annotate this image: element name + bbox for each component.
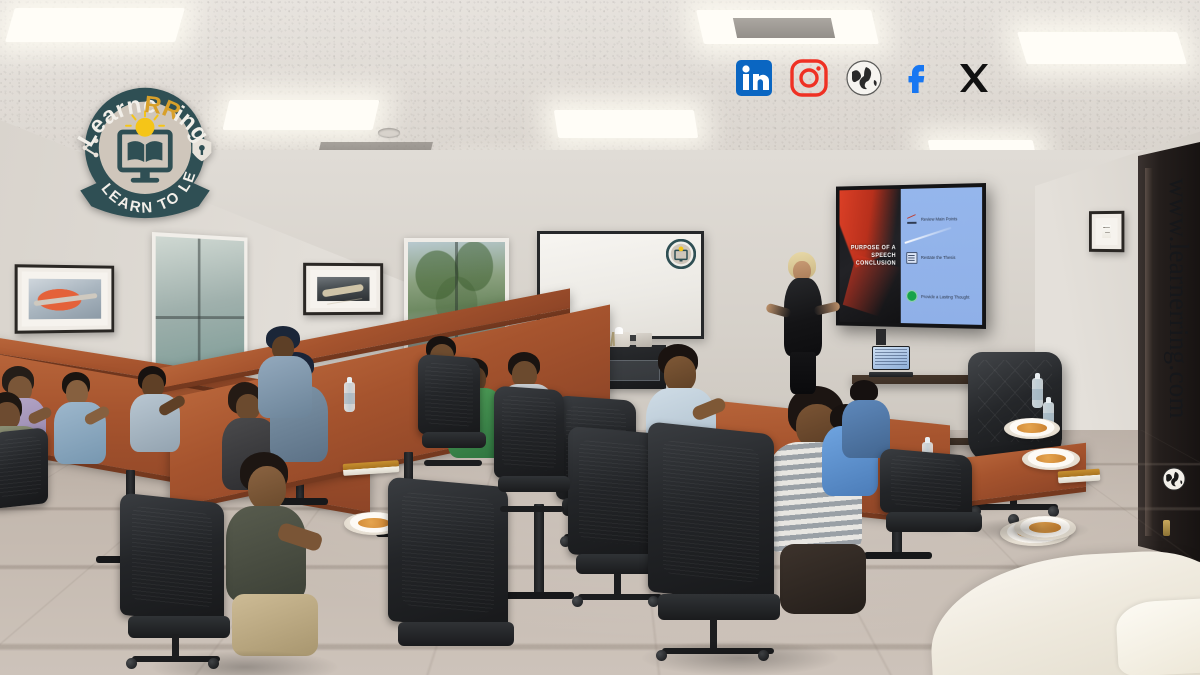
slide-title-line: PURPOSE OF A: [851, 244, 896, 252]
helicopter-image: [29, 279, 101, 320]
office-chair[interactable]: [648, 428, 788, 672]
office-chair[interactable]: [120, 498, 240, 674]
chair-seat: [498, 476, 570, 492]
social-icon-row: [733, 57, 995, 99]
website-url: www.learnerring.com: [1163, 178, 1194, 419]
linkedin-icon[interactable]: [733, 57, 775, 99]
presenter-legs: [790, 352, 816, 394]
chair-backrest: [418, 354, 480, 438]
torso: [842, 400, 890, 458]
floor-shadow: [960, 518, 1090, 542]
water-bottle[interactable]: [344, 382, 355, 412]
ceiling-light-panel: [554, 110, 698, 138]
chair-seat: [658, 594, 780, 620]
photo-mat: [22, 271, 108, 326]
office-chair[interactable]: [494, 388, 580, 526]
chart-icon: [906, 214, 917, 226]
ceiling-vent: [733, 18, 835, 38]
hair: [850, 380, 878, 402]
certificate-mat: [1096, 218, 1118, 245]
x-twitter-icon[interactable]: [953, 57, 995, 99]
head: [248, 466, 286, 510]
chair-star-base: [424, 460, 482, 466]
photo-mat: [310, 270, 376, 308]
paper-plate: [1022, 448, 1080, 470]
presenter: [772, 252, 834, 392]
framed-osprey-photo: [303, 263, 383, 315]
legs: [780, 544, 866, 614]
torso: [258, 356, 312, 418]
slide-bullet-item: Provide a Lasting Thought: [906, 290, 978, 303]
whiteboard-logo-icon: [666, 239, 696, 269]
chair-caster: [572, 596, 583, 607]
wall-mounted-tv: PURPOSE OF A SPEECH CONCLUSION Review Ma…: [836, 183, 986, 329]
laptop-keyboard[interactable]: [869, 372, 913, 377]
slide-title-line: CONCLUSION: [851, 260, 896, 268]
slide-title-line: SPEECH: [851, 252, 896, 260]
certificate-image: [1102, 225, 1111, 238]
office-chair[interactable]: [418, 356, 494, 476]
tv-wall-bracket: [876, 329, 886, 345]
smoke-detector-icon: [378, 128, 400, 137]
scene-root: PURPOSE OF A SPEECH CONCLUSION Review Ma…: [0, 0, 1200, 675]
laptop-screen: [872, 346, 910, 370]
website-globe-icon[interactable]: [843, 57, 885, 99]
document-icon: [906, 252, 917, 264]
osprey-image: [317, 277, 369, 301]
slide-bullet-item: Restate the Thesis: [906, 252, 978, 264]
student: [130, 366, 192, 470]
chair-backrest: [120, 493, 224, 626]
globe-icon: [1161, 466, 1187, 492]
shorts: [232, 594, 318, 656]
facebook-icon[interactable]: [898, 57, 940, 99]
presenter-torso: [784, 278, 822, 356]
green-dot-icon: [906, 290, 917, 302]
chair-seat: [398, 622, 514, 646]
chair-star-base: [500, 506, 564, 512]
slide-title: PURPOSE OF A SPEECH CONCLUSION: [851, 244, 901, 268]
ceiling-light-panel: [223, 100, 380, 130]
chair-seat: [422, 432, 486, 448]
slide-bullet-text: Review Main Points: [921, 217, 957, 222]
ceiling-light-panel: [5, 8, 185, 42]
learnerring-logo-icon: Learne RR ing LEARN TO LEAD: [66, 72, 224, 230]
chair-backrest: [648, 421, 774, 604]
paper-plate: [1004, 418, 1060, 439]
door-handle-icon[interactable]: [1163, 520, 1170, 536]
student: [256, 326, 318, 426]
chair-caster: [126, 658, 137, 669]
chair-seat: [128, 616, 230, 638]
office-chair[interactable]: [0, 430, 62, 550]
instagram-icon[interactable]: [788, 57, 830, 99]
slide-bullet-text: Restate the Thesis: [921, 255, 955, 260]
laptop[interactable]: [872, 346, 910, 377]
chair-backrest: [494, 386, 564, 483]
framed-certificate: [1089, 211, 1124, 252]
head: [664, 356, 696, 392]
presentation-slide: PURPOSE OF A SPEECH CONCLUSION Review Ma…: [839, 187, 982, 325]
floor-shadow: [640, 640, 840, 675]
learnerring-logo: Learne RR ing LEARN TO LEAD: [66, 72, 224, 230]
slide-bullet-panel: Review Main Points Restate the Thesis Pr…: [901, 187, 983, 325]
framed-helicopter-photo: [15, 264, 115, 334]
ceiling-light-panel: [1017, 32, 1187, 64]
slide-bullet-item: Review Main Points: [906, 213, 978, 226]
slide-title-panel: PURPOSE OF A SPEECH CONCLUSION: [839, 189, 900, 323]
chair-backrest: [880, 448, 972, 520]
slide-bullet-text: Provide a Lasting Thought: [921, 294, 970, 300]
chair-backrest: [388, 477, 508, 631]
water-bottle[interactable]: [1032, 378, 1043, 408]
chair-backrest: [0, 427, 48, 509]
chair-gas-post: [614, 572, 621, 596]
